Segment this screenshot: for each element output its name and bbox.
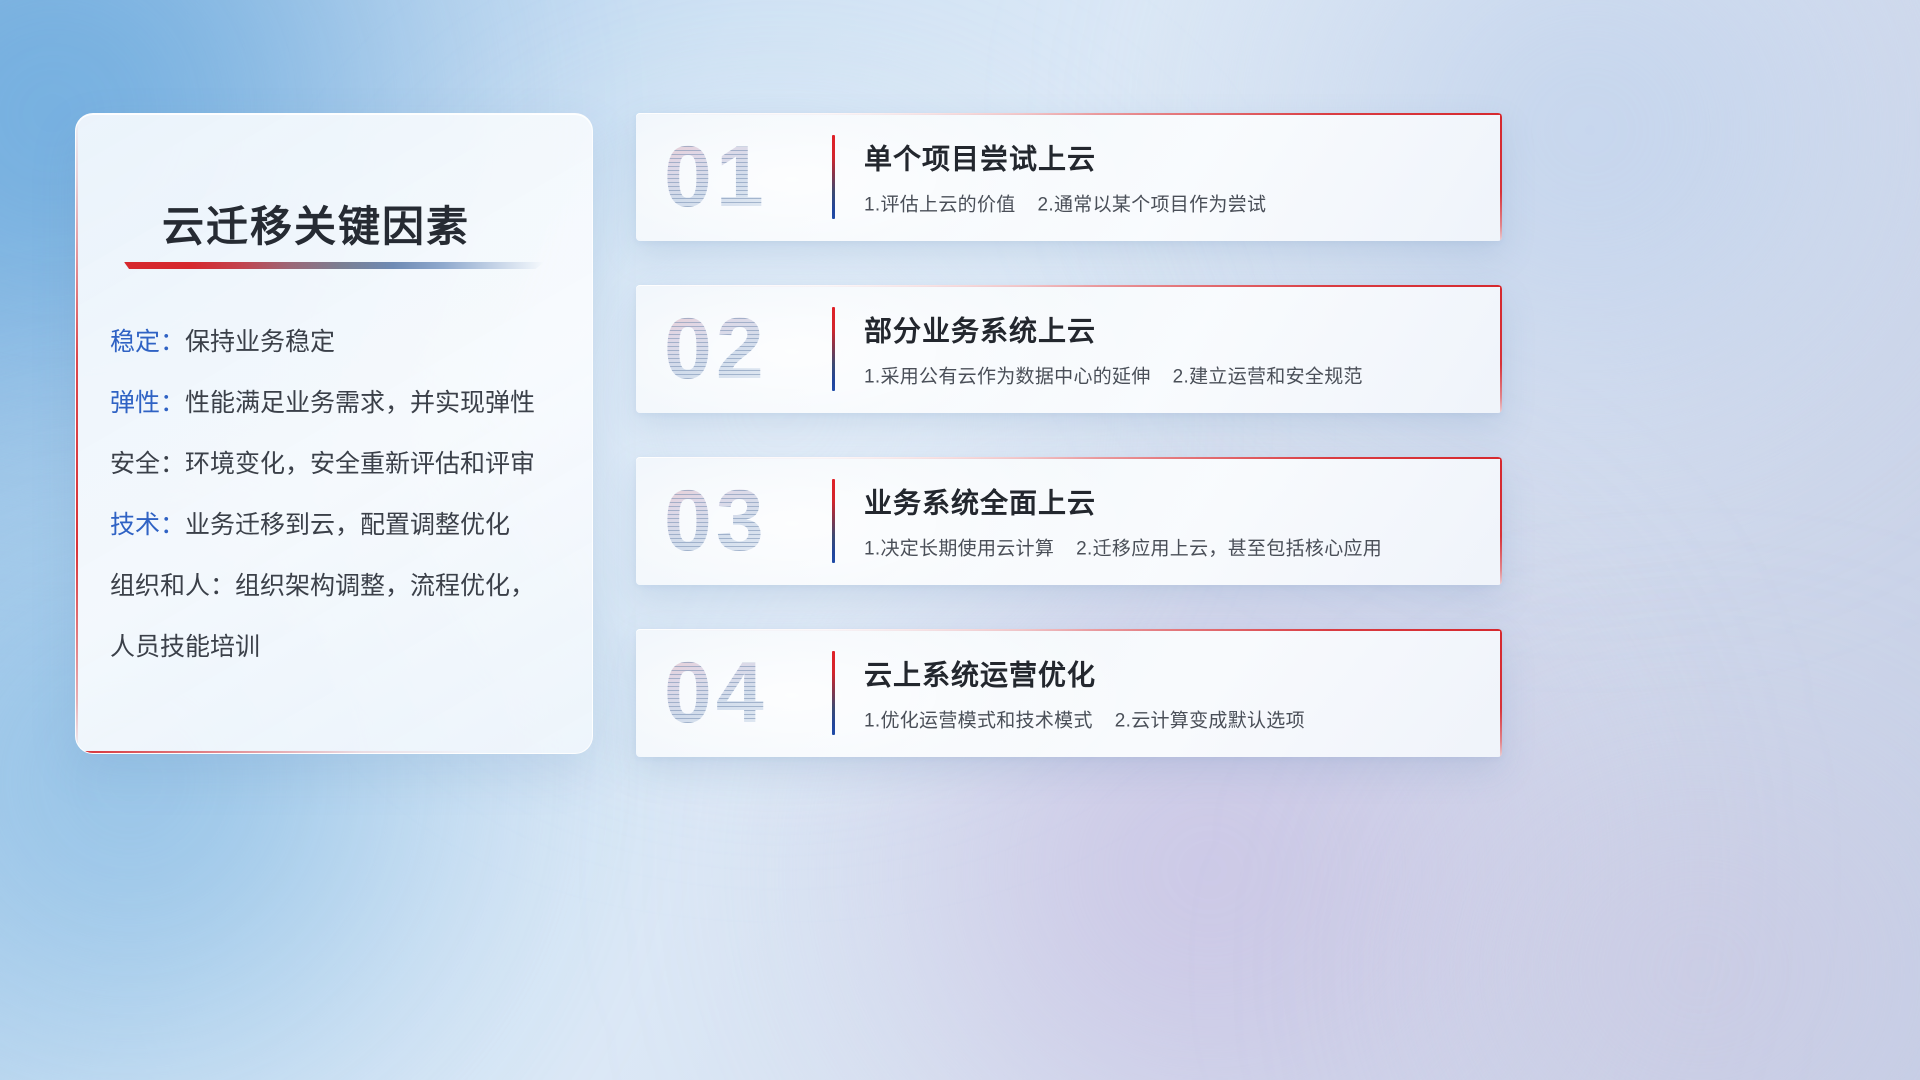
card-divider-bar xyxy=(832,479,835,563)
key-factors-panel: 云迁移关键因素 稳定：保持业务稳定 弹性：性能满足业务需求，并实现弹性 安全：环… xyxy=(75,113,593,754)
card-title: 单个项目尝试上云 xyxy=(864,138,1476,178)
factor-text: 环境变化，安全重新评估和评审 xyxy=(185,450,535,478)
migration-stage-cards: 01 单个项目尝试上云 1.评估上云的价值2.通常以某个项目作为尝试 02 部分… xyxy=(636,113,1502,757)
card-description-point-1: 1.优化运营模式和技术模式 xyxy=(864,711,1093,732)
factor-item-security: 安全：环境变化，安全重新评估和评审 xyxy=(110,434,564,495)
factor-label: 组织和人： xyxy=(110,572,235,600)
card-description-point-2: 2.建立运营和安全规范 xyxy=(1173,367,1363,388)
stage-number: 03 xyxy=(664,478,768,564)
card-right-accent-line xyxy=(1500,457,1502,585)
card-description-point-2: 2.迁移应用上云，甚至包括核心应用 xyxy=(1076,539,1382,560)
card-title: 部分业务系统上云 xyxy=(864,310,1476,350)
stage-number: 04 xyxy=(664,650,768,736)
factor-label: 稳定： xyxy=(110,328,185,356)
card-description: 1.优化运营模式和技术模式2.云计算变成默认选项 xyxy=(864,706,1476,733)
factor-item-elasticity: 弹性：性能满足业务需求，并实现弹性 xyxy=(110,373,564,434)
card-description-point-1: 1.决定长期使用云计算 xyxy=(864,539,1054,560)
page-title: 云迁移关键因素 xyxy=(162,193,470,254)
card-content: 云上系统运营优化 1.优化运营模式和技术模式2.云计算变成默认选项 xyxy=(864,654,1476,733)
card-content: 业务系统全面上云 1.决定长期使用云计算2.迁移应用上云，甚至包括核心应用 xyxy=(864,482,1476,561)
factor-text: 性能满足业务需求，并实现弹性 xyxy=(185,389,535,417)
stage-number: 02 xyxy=(664,306,768,392)
card-divider-bar xyxy=(832,651,835,735)
card-description: 1.评估上云的价值2.通常以某个项目作为尝试 xyxy=(864,190,1476,217)
card-description: 1.采用公有云作为数据中心的延伸2.建立运营和安全规范 xyxy=(864,362,1476,389)
card-description-point-2: 2.通常以某个项目作为尝试 xyxy=(1038,195,1267,216)
stage-number: 01 xyxy=(664,134,768,220)
stage-card-01[interactable]: 01 单个项目尝试上云 1.评估上云的价值2.通常以某个项目作为尝试 xyxy=(636,113,1502,241)
factor-item-organization: 组织和人：组织架构调整，流程优化， xyxy=(110,556,564,617)
factor-item-technology: 技术：业务迁移到云，配置调整优化 xyxy=(110,495,564,556)
card-description-point-1: 1.采用公有云作为数据中心的延伸 xyxy=(864,367,1151,388)
stage-card-03[interactable]: 03 业务系统全面上云 1.决定长期使用云计算2.迁移应用上云，甚至包括核心应用 xyxy=(636,457,1502,585)
factor-text: 保持业务稳定 xyxy=(185,328,335,356)
title-underline-rule xyxy=(124,262,544,269)
card-divider-bar xyxy=(832,135,835,219)
card-top-accent-line xyxy=(636,457,1502,459)
card-right-accent-line xyxy=(1500,113,1502,241)
stage-card-04[interactable]: 04 云上系统运营优化 1.优化运营模式和技术模式2.云计算变成默认选项 xyxy=(636,629,1502,757)
card-title: 业务系统全面上云 xyxy=(864,482,1476,522)
key-factors-list: 稳定：保持业务稳定 弹性：性能满足业务需求，并实现弹性 安全：环境变化，安全重新… xyxy=(110,312,564,678)
card-top-accent-line xyxy=(636,113,1502,115)
card-description: 1.决定长期使用云计算2.迁移应用上云，甚至包括核心应用 xyxy=(864,534,1476,561)
card-top-accent-line xyxy=(636,629,1502,631)
factor-text: 人员技能培训 xyxy=(110,633,260,661)
slide-stage: 云迁移关键因素 稳定：保持业务稳定 弹性：性能满足业务需求，并实现弹性 安全：环… xyxy=(0,0,1920,1080)
stage-card-02[interactable]: 02 部分业务系统上云 1.采用公有云作为数据中心的延伸2.建立运营和安全规范 xyxy=(636,285,1502,413)
factor-label: 弹性： xyxy=(110,389,185,417)
card-content: 单个项目尝试上云 1.评估上云的价值2.通常以某个项目作为尝试 xyxy=(864,138,1476,217)
card-description-point-2: 2.云计算变成默认选项 xyxy=(1115,711,1305,732)
card-title: 云上系统运营优化 xyxy=(864,654,1476,694)
card-right-accent-line xyxy=(1500,285,1502,413)
card-right-accent-line xyxy=(1500,629,1502,757)
card-description-point-1: 1.评估上云的价值 xyxy=(864,195,1016,216)
factor-item-organization-continued: 人员技能培训 xyxy=(110,617,564,678)
card-top-accent-line xyxy=(636,285,1502,287)
factor-label: 技术： xyxy=(110,511,185,539)
factor-text: 业务迁移到云，配置调整优化 xyxy=(185,511,510,539)
factor-text: 组织架构调整，流程优化， xyxy=(235,572,535,600)
card-divider-bar xyxy=(832,307,835,391)
card-content: 部分业务系统上云 1.采用公有云作为数据中心的延伸2.建立运营和安全规范 xyxy=(864,310,1476,389)
factor-label: 安全： xyxy=(110,450,185,478)
factor-item-stability: 稳定：保持业务稳定 xyxy=(110,312,564,373)
